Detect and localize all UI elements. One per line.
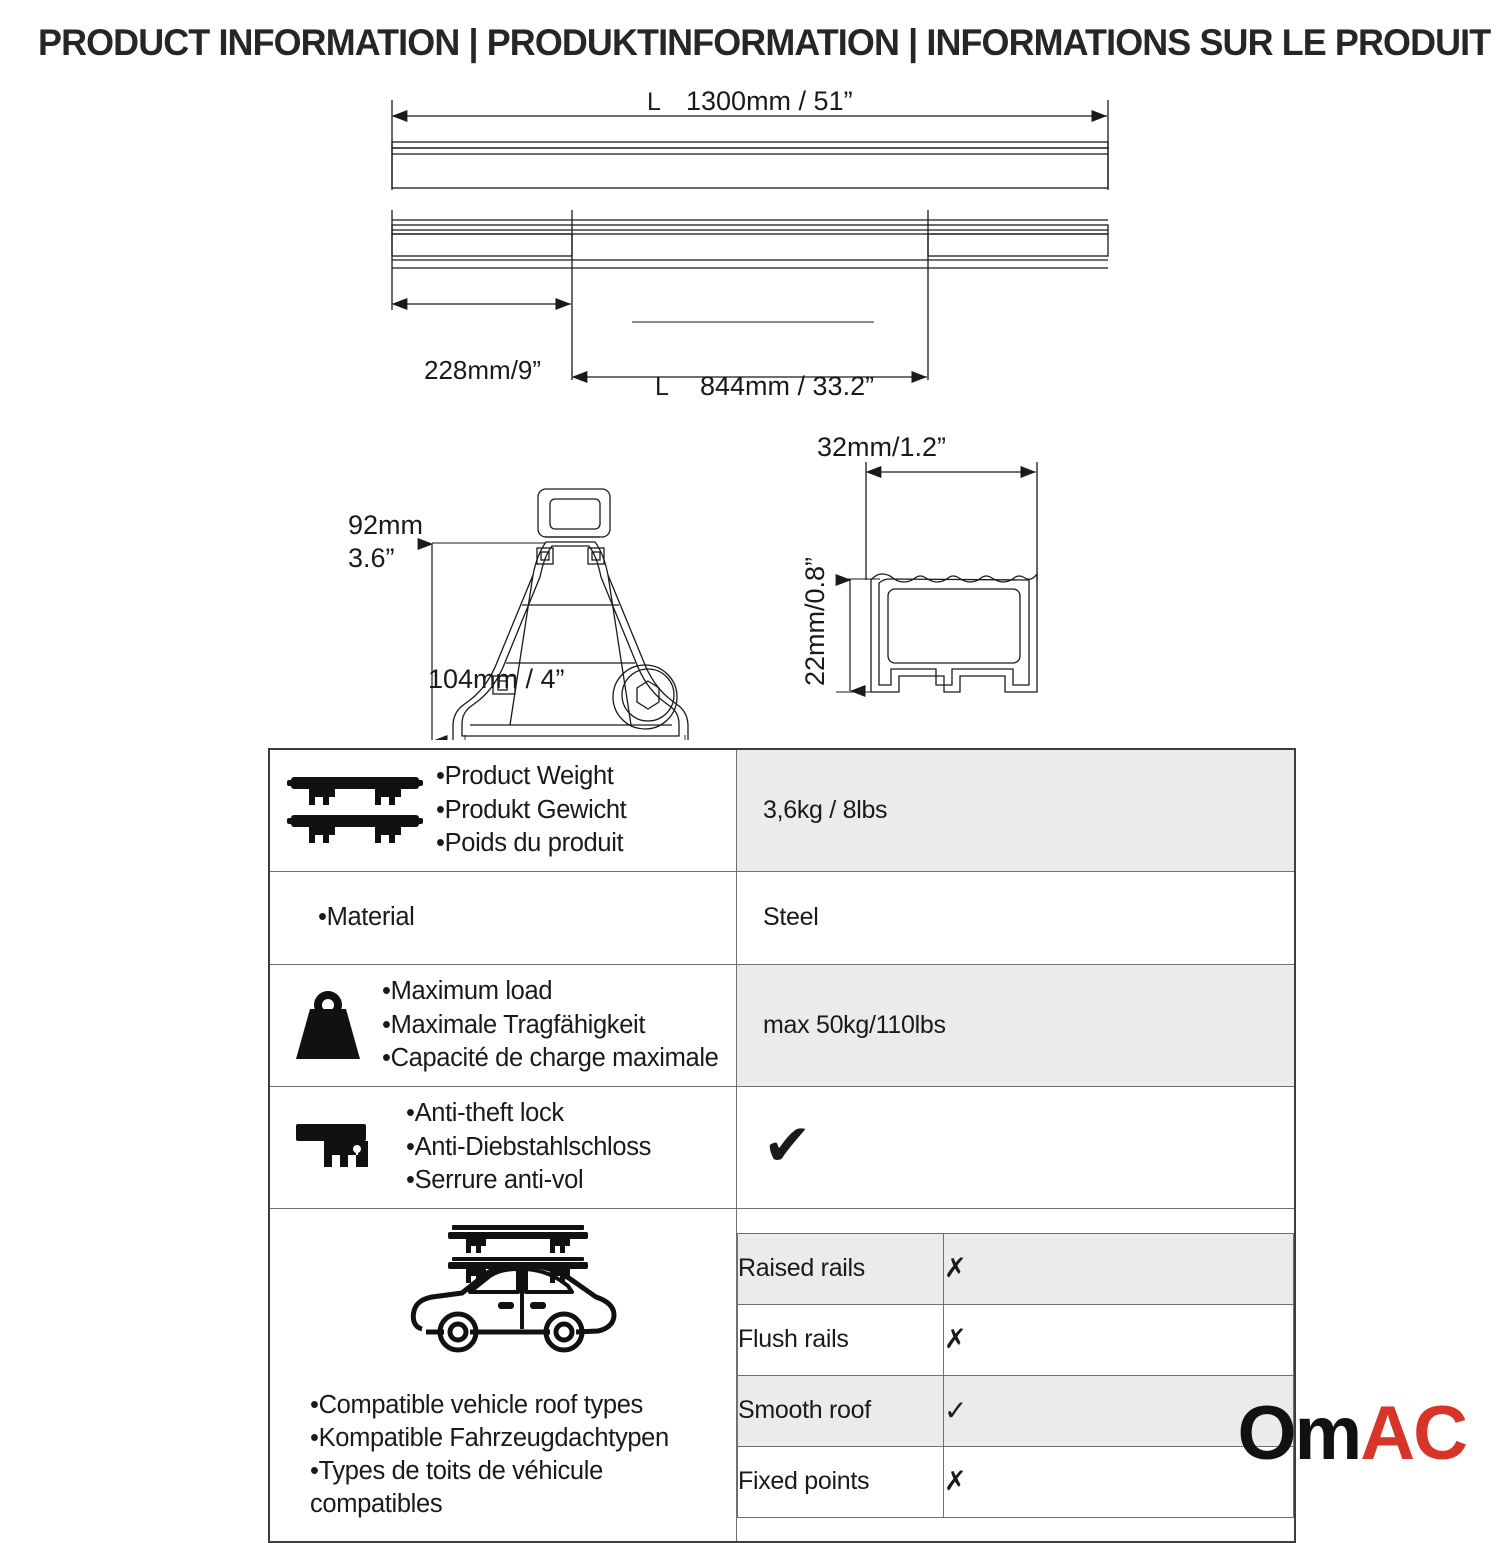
foot-offset-label: 228mm/9” — [424, 355, 541, 385]
label-line: •Material — [318, 901, 730, 935]
label-line: •Serrure anti-vol — [406, 1164, 730, 1198]
check-icon: ✓ — [944, 1394, 967, 1427]
bar-length-unit-label: L — [647, 88, 661, 116]
roof-type-row: Raised rails ✗ — [738, 1233, 1294, 1304]
label-line: •Kompatible Fahrzeugdachtypen — [310, 1422, 724, 1455]
car-with-rack-icon-svg — [400, 1219, 630, 1359]
cross-icon: ✗ — [944, 1466, 967, 1497]
crossbars-icon-svg — [287, 773, 423, 847]
lock-icon-svg — [294, 1116, 386, 1178]
spec-label-text-weight: •Product Weight •Produkt Gewicht •Poids … — [436, 760, 730, 861]
label-line: •Types de toits de véhicule compatibles — [310, 1455, 724, 1521]
omac-logo-red-part: AC — [1360, 1396, 1466, 1472]
spec-label-text-material: •Material — [280, 901, 730, 935]
roof-type-name: Raised rails — [738, 1233, 944, 1304]
table-row: •Product Weight •Produkt Gewicht •Poids … — [269, 749, 1295, 871]
product-spec-table: •Product Weight •Produkt Gewicht •Poids … — [268, 748, 1296, 1543]
spread-unit-label: L — [655, 373, 669, 401]
roof-type-row: Smooth roof ✓ — [738, 1375, 1294, 1446]
crossbars-icon — [280, 773, 430, 847]
spec-label-cell-lock: •Anti-theft lock •Anti-Diebstahlschloss … — [269, 1086, 737, 1208]
label-line: •Anti-Diebstahlschloss — [406, 1131, 730, 1165]
weight-icon — [280, 987, 376, 1063]
foot-height-value: 92mm — [348, 510, 423, 540]
profile-height-value: 22mm/0.8” — [800, 557, 830, 686]
roof-types-table: Raised rails ✗ Flush rails ✗ — [737, 1233, 1294, 1518]
lock-icon — [280, 1116, 400, 1178]
foot-height-inch-value: 3.6” — [348, 543, 395, 573]
spec-value-material: Steel — [737, 871, 1296, 964]
spec-value-maxload: max 50kg/110lbs — [737, 964, 1296, 1086]
spec-value-lock: ✔ — [737, 1086, 1296, 1208]
label-line: •Maximum load — [382, 975, 730, 1009]
table-row: •Material Steel — [269, 871, 1295, 964]
roof-type-row: Flush rails ✗ — [738, 1304, 1294, 1375]
label-line: •Poids du produit — [436, 827, 730, 861]
cross-icon: ✗ — [944, 1253, 967, 1284]
spread-value: 844mm / 33.2” — [700, 371, 874, 401]
table-row-roof-types: •Compatible vehicle roof types •Kompatib… — [269, 1208, 1295, 1542]
car-with-rack-icon — [300, 1219, 730, 1359]
spec-label-cell-rooftypes: •Compatible vehicle roof types •Kompatib… — [269, 1208, 737, 1542]
checkmark-icon: ✔ — [763, 1122, 811, 1168]
label-line: •Compatible vehicle roof types — [310, 1389, 724, 1422]
profile-width-value: 32mm/1.2” — [817, 432, 946, 462]
roof-types-cell: Raised rails ✗ Flush rails ✗ — [737, 1208, 1296, 1542]
roof-type-name: Smooth roof — [738, 1375, 944, 1446]
label-line: •Produkt Gewicht — [436, 794, 730, 828]
roof-type-row: Fixed points ✗ — [738, 1446, 1294, 1517]
table-row: •Maximum load •Maximale Tragfähigkeit •C… — [269, 964, 1295, 1086]
weight-icon-svg — [288, 987, 368, 1063]
bar-length-value: 1300mm / 51” — [686, 86, 853, 116]
spec-label-cell-maxload: •Maximum load •Maximale Tragfähigkeit •C… — [269, 964, 737, 1086]
spec-label-cell-material: •Material — [269, 871, 737, 964]
technical-drawing: L 1300mm / 51” 228mm/9” L 844mm / 33.2” … — [0, 80, 1500, 740]
page-title: PRODUCT INFORMATION | PRODUKTINFORMATION… — [38, 22, 1425, 64]
roof-type-mark: ✗ — [944, 1304, 1294, 1375]
roof-type-mark: ✗ — [944, 1233, 1294, 1304]
cross-icon: ✗ — [944, 1324, 967, 1355]
spec-label-text-rooftypes: •Compatible vehicle roof types •Kompatib… — [280, 1375, 730, 1532]
label-line: •Capacité de charge maximale — [382, 1042, 730, 1076]
roof-label-block: •Compatible vehicle roof types •Kompatib… — [310, 1389, 724, 1522]
omac-logo-dark-part: Om — [1238, 1396, 1361, 1472]
spec-label-text-maxload: •Maximum load •Maximale Tragfähigkeit •C… — [382, 975, 730, 1076]
omac-logo: OmAC — [1238, 1396, 1466, 1472]
label-line: •Anti-theft lock — [406, 1097, 730, 1131]
spec-label-cell-weight: •Product Weight •Produkt Gewicht •Poids … — [269, 749, 737, 871]
label-line: •Product Weight — [436, 760, 730, 794]
spec-label-text-lock: •Anti-theft lock •Anti-Diebstahlschloss … — [406, 1097, 730, 1198]
roof-type-name: Fixed points — [738, 1446, 944, 1517]
drawing-svg: L 1300mm / 51” 228mm/9” L 844mm / 33.2” … — [0, 80, 1500, 740]
foot-width-value: 104mm / 4” — [428, 664, 565, 694]
label-line: •Maximale Tragfähigkeit — [382, 1009, 730, 1043]
spec-value-weight: 3,6kg / 8lbs — [737, 749, 1296, 871]
roof-type-name: Flush rails — [738, 1304, 944, 1375]
table-row: •Anti-theft lock •Anti-Diebstahlschloss … — [269, 1086, 1295, 1208]
